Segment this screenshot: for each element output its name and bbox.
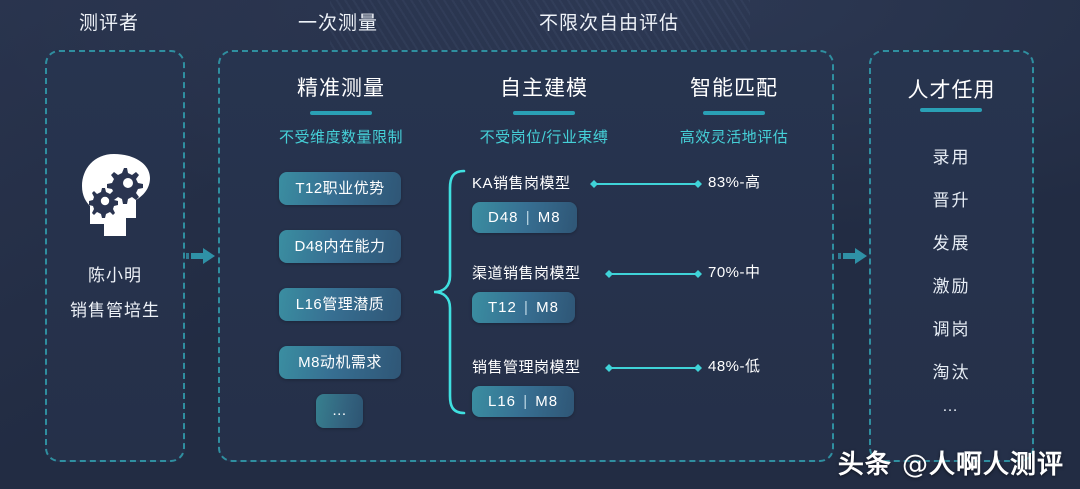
model-tag-left: D48	[488, 209, 519, 226]
talent-use-item[interactable]: 发展	[869, 229, 1034, 254]
match-connector-icon	[603, 362, 704, 374]
talent-use-item[interactable]: 淘汰	[869, 358, 1034, 383]
model-tag[interactable]: T12 | M8	[472, 292, 575, 323]
model-tag-separator: |	[526, 209, 531, 226]
match-connector-icon	[588, 178, 704, 190]
right-panel-title: 人才任用	[869, 74, 1034, 104]
person-role: 销售管培生	[45, 296, 185, 321]
model-tag-left: L16	[488, 393, 516, 410]
talent-use-item-more: …	[869, 398, 1034, 416]
watermark-handle: 人啊人测评	[929, 450, 1064, 480]
model-tag[interactable]: D48 | M8	[472, 202, 577, 233]
title-underline	[513, 111, 575, 115]
model-row: 销售管理岗模型 L16 | M8	[472, 356, 581, 417]
column-header-self-modeling: 自主建模 不受岗位/行业束缚	[460, 72, 628, 147]
column-subtitle: 不受岗位/行业束缚	[460, 126, 628, 147]
title-underline	[310, 111, 372, 115]
model-tag-right: M8	[535, 393, 558, 410]
caption-assessee: 测评者	[79, 8, 139, 35]
column-header-smart-matching: 智能匹配 高效灵活地评估	[650, 72, 818, 147]
talent-use-item[interactable]: 录用	[869, 143, 1034, 168]
flow-arrow-icon-left	[186, 246, 216, 266]
column-title: 自主建模	[460, 72, 628, 102]
match-score: 83%-高	[708, 171, 761, 192]
person-name: 陈小明	[45, 261, 185, 286]
title-underline	[703, 111, 765, 115]
column-subtitle: 不受维度数量限制	[262, 126, 420, 147]
model-name: 销售管理岗模型	[472, 356, 581, 377]
model-tag-left: T12	[488, 299, 517, 316]
head-with-gears-icon	[74, 152, 158, 238]
watermark-brand: 头条	[838, 450, 892, 480]
dimension-pill-more[interactable]: ...	[316, 394, 363, 428]
match-connector-icon	[603, 268, 704, 280]
talent-use-item[interactable]: 晋升	[869, 186, 1034, 211]
dimension-pill[interactable]: D48内在能力	[279, 230, 401, 263]
caption-single-measurement: 一次测量	[298, 8, 378, 35]
caption-unlimited-evaluation: 不限次自由评估	[539, 8, 679, 35]
dimension-pill[interactable]: T12职业优势	[279, 172, 401, 205]
column-subtitle: 高效灵活地评估	[650, 126, 818, 147]
watermark-at-symbol: @	[902, 450, 929, 480]
talent-use-item[interactable]: 调岗	[869, 315, 1034, 340]
match-score: 48%-低	[708, 355, 761, 376]
model-tag-separator: |	[524, 299, 529, 316]
infographic-canvas: 测评者 一次测量 不限次自由评估 陈小明 销售管培生 精准测量 不受维度数量限制…	[0, 0, 1080, 489]
model-tag-right: M8	[536, 299, 559, 316]
flow-arrow-icon-right	[838, 246, 868, 266]
match-score: 70%-中	[708, 261, 761, 282]
column-title: 精准测量	[262, 72, 420, 102]
column-title: 智能匹配	[650, 72, 818, 102]
right-title-underline	[920, 108, 982, 112]
dimension-pill[interactable]: L16管理潜质	[279, 288, 401, 321]
model-name: 渠道销售岗模型	[472, 262, 581, 283]
model-row: 渠道销售岗模型 T12 | M8	[472, 262, 581, 323]
model-tag[interactable]: L16 | M8	[472, 386, 574, 417]
model-tag-separator: |	[523, 393, 528, 410]
column-header-precise-measurement: 精准测量 不受维度数量限制	[262, 72, 420, 147]
talent-use-item[interactable]: 激励	[869, 272, 1034, 297]
model-name: KA销售岗模型	[472, 172, 577, 193]
dimension-pill[interactable]: M8动机需求	[279, 346, 401, 379]
watermark: 头条 @人啊人测评	[838, 444, 1064, 481]
curly-brace-icon	[432, 168, 466, 416]
model-tag-right: M8	[538, 209, 561, 226]
model-row: KA销售岗模型 D48 | M8	[472, 172, 577, 233]
panel-assessee	[45, 50, 185, 462]
